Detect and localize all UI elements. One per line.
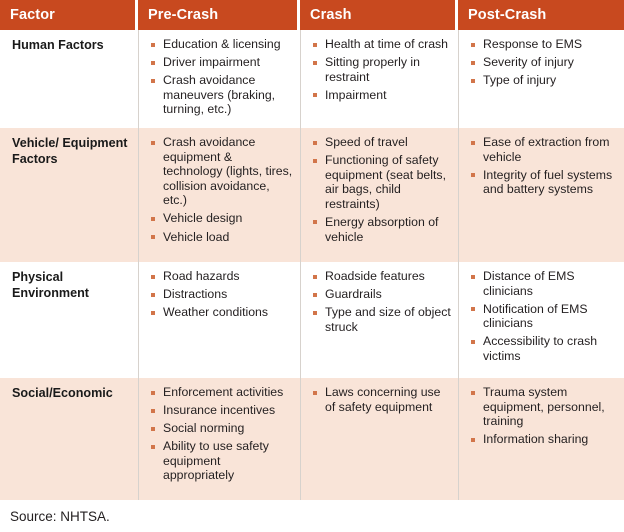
cell-post-crash: Response to EMS Severity of injury Type … — [458, 30, 624, 128]
list-item-text: Social norming — [163, 421, 244, 435]
cell-post-crash: Distance of EMS clinicians Notification … — [458, 262, 624, 378]
list-item: Distance of EMS clinicians — [469, 269, 618, 298]
list-item: Guardrails — [311, 287, 452, 302]
bullet-list-post-crash: Response to EMS Severity of injury Type … — [469, 37, 618, 88]
column-header-factor: Factor — [0, 0, 135, 30]
list-item-text: Ability to use safety equipment appropri… — [163, 439, 269, 482]
list-item: Information sharing — [469, 432, 618, 447]
bullet-square-icon — [313, 275, 317, 279]
list-item: Functioning of safety equipment (seat be… — [311, 153, 452, 211]
bullet-list-post-crash: Distance of EMS clinicians Notification … — [469, 269, 618, 364]
list-item: Speed of travel — [311, 135, 452, 150]
list-item-text: Driver impairment — [163, 55, 260, 69]
bullet-list-crash: Laws concerning use of safety equipment — [311, 385, 452, 414]
list-item: Vehicle design — [149, 211, 294, 226]
list-item: Type and size of object struck — [311, 305, 452, 334]
cell-crash: Health at time of crash Sitting properly… — [300, 30, 458, 128]
list-item-text: Vehicle design — [163, 211, 242, 225]
cell-pre-crash: Road hazards Distractions Weather condit… — [138, 262, 300, 378]
bullet-square-icon — [471, 141, 475, 145]
bullet-list-post-crash: Trauma system equipment, personnel, trai… — [469, 385, 618, 447]
row-factor-text: Vehicle/ Equipment Factors — [12, 136, 127, 166]
bullet-square-icon — [151, 217, 155, 221]
list-item: Sitting properly in restraint — [311, 55, 452, 84]
list-item-text: Education & licensing — [163, 37, 281, 51]
list-item: Accessibility to crash victims — [469, 334, 618, 363]
list-item: Weather conditions — [149, 305, 294, 320]
cell-crash: Roadside features Guardrails Type and si… — [300, 262, 458, 378]
table-row: Human Factors Education & licensing Driv… — [0, 30, 624, 128]
bullet-square-icon — [313, 293, 317, 297]
list-item-text: Weather conditions — [163, 305, 268, 319]
list-item-text: Notification of EMS clinicians — [483, 302, 588, 331]
row-factor-label: Human Factors — [0, 30, 138, 128]
bullet-square-icon — [471, 173, 475, 177]
bullet-square-icon — [151, 275, 155, 279]
bullet-square-icon — [151, 43, 155, 47]
list-item-text: Type and size of object struck — [325, 305, 451, 334]
list-item: Health at time of crash — [311, 37, 452, 52]
list-item: Distractions — [149, 287, 294, 302]
list-item-text: Health at time of crash — [325, 37, 448, 51]
bullet-list-pre-crash: Road hazards Distractions Weather condit… — [149, 269, 294, 320]
bullet-square-icon — [471, 340, 475, 344]
list-item: Severity of injury — [469, 55, 618, 70]
list-item-text: Enforcement activities — [163, 385, 283, 399]
list-item-text: Sitting properly in restraint — [325, 55, 420, 84]
bullet-square-icon — [313, 220, 317, 224]
row-factor-text: Physical Environment — [12, 270, 89, 300]
bullet-square-icon — [471, 61, 475, 65]
bullet-list-crash: Speed of travel Functioning of safety eq… — [311, 135, 452, 244]
bullet-square-icon — [471, 79, 475, 83]
bullet-list-post-crash: Ease of extraction from vehicle Integrit… — [469, 135, 618, 197]
bullet-square-icon — [151, 409, 155, 413]
list-item-text: Road hazards — [163, 269, 240, 283]
haddon-matrix-table-figure: Factor Pre-Crash Crash Post-Crash Human … — [0, 0, 624, 532]
list-item-text: Accessibility to crash victims — [483, 334, 597, 363]
list-item-text: Functioning of safety equipment (seat be… — [325, 153, 446, 211]
bullet-list-pre-crash: Crash avoidance equipment & technology (… — [149, 135, 294, 244]
bullet-square-icon — [151, 61, 155, 65]
list-item: Social norming — [149, 421, 294, 436]
bullet-square-icon — [313, 43, 317, 47]
list-item-text: Crash avoidance equipment & technology (… — [163, 135, 292, 207]
bullet-square-icon — [313, 159, 317, 163]
list-item-text: Trauma system equipment, personnel, trai… — [483, 385, 605, 428]
bullet-list-crash: Roadside features Guardrails Type and si… — [311, 269, 452, 334]
bullet-square-icon — [471, 275, 475, 279]
cell-post-crash: Ease of extraction from vehicle Integrit… — [458, 128, 624, 262]
bullet-square-icon — [471, 307, 475, 311]
list-item: Notification of EMS clinicians — [469, 302, 618, 331]
bullet-square-icon — [151, 79, 155, 83]
table-body: Human Factors Education & licensing Driv… — [0, 30, 624, 500]
list-item: Insurance incentives — [149, 403, 294, 418]
table-row: Physical Environment Road hazards Distra… — [0, 262, 624, 378]
bullet-square-icon — [151, 235, 155, 239]
row-factor-label: Social/Economic — [0, 378, 138, 500]
table-row: Vehicle/ Equipment Factors Crash avoidan… — [0, 128, 624, 262]
bullet-square-icon — [313, 61, 317, 65]
bullet-list-pre-crash: Enforcement activities Insurance incenti… — [149, 385, 294, 483]
list-item: Roadside features — [311, 269, 452, 284]
cell-crash: Speed of travel Functioning of safety eq… — [300, 128, 458, 262]
bullet-square-icon — [471, 43, 475, 47]
bullet-square-icon — [151, 427, 155, 431]
bullet-square-icon — [151, 445, 155, 449]
bullet-square-icon — [471, 438, 475, 442]
list-item-text: Information sharing — [483, 432, 588, 446]
cell-crash: Laws concerning use of safety equipment — [300, 378, 458, 500]
bullet-square-icon — [151, 293, 155, 297]
list-item-text: Type of injury — [483, 73, 556, 87]
source-caption: Source: NHTSA. — [0, 500, 624, 525]
row-factor-label: Vehicle/ Equipment Factors — [0, 128, 138, 262]
list-item: Vehicle load — [149, 230, 294, 245]
list-item-text: Severity of injury — [483, 55, 574, 69]
list-item: Trauma system equipment, personnel, trai… — [469, 385, 618, 429]
list-item: Driver impairment — [149, 55, 294, 70]
list-item-text: Laws concerning use of safety equipment — [325, 385, 441, 414]
list-item-text: Roadside features — [325, 269, 425, 283]
list-item: Ease of extraction from vehicle — [469, 135, 618, 164]
list-item: Road hazards — [149, 269, 294, 284]
column-header-pre-crash: Pre-Crash — [138, 0, 297, 30]
list-item: Impairment — [311, 88, 452, 103]
list-item: Energy absorption of vehicle — [311, 215, 452, 244]
list-item: Laws concerning use of safety equipment — [311, 385, 452, 414]
list-item: Type of injury — [469, 73, 618, 88]
table-row: Social/Economic Enforcement activities I… — [0, 378, 624, 500]
bullet-square-icon — [313, 93, 317, 97]
bullet-square-icon — [151, 311, 155, 315]
column-header-crash: Crash — [300, 0, 455, 30]
list-item-text: Speed of travel — [325, 135, 408, 149]
bullet-square-icon — [313, 141, 317, 145]
list-item-text: Vehicle load — [163, 230, 229, 244]
list-item-text: Guardrails — [325, 287, 382, 301]
bullet-list-crash: Health at time of crash Sitting properly… — [311, 37, 452, 102]
list-item-text: Distractions — [163, 287, 227, 301]
bullet-square-icon — [151, 141, 155, 145]
list-item: Ability to use safety equipment appropri… — [149, 439, 294, 483]
list-item: Education & licensing — [149, 37, 294, 52]
list-item-text: Energy absorption of vehicle — [325, 215, 438, 244]
cell-pre-crash: Enforcement activities Insurance incenti… — [138, 378, 300, 500]
list-item: Integrity of fuel systems and battery sy… — [469, 168, 618, 197]
bullet-square-icon — [471, 391, 475, 395]
cell-post-crash: Trauma system equipment, personnel, trai… — [458, 378, 624, 500]
list-item-text: Impairment — [325, 88, 387, 102]
list-item: Crash avoidance maneuvers (braking, turn… — [149, 73, 294, 117]
cell-pre-crash: Education & licensing Driver impairment … — [138, 30, 300, 128]
list-item-text: Response to EMS — [483, 37, 582, 51]
bullet-square-icon — [313, 391, 317, 395]
column-header-post-crash: Post-Crash — [458, 0, 624, 30]
list-item-text: Insurance incentives — [163, 403, 275, 417]
bullet-list-pre-crash: Education & licensing Driver impairment … — [149, 37, 294, 117]
row-factor-label: Physical Environment — [0, 262, 138, 378]
list-item: Response to EMS — [469, 37, 618, 52]
list-item-text: Distance of EMS clinicians — [483, 269, 575, 298]
list-item-text: Ease of extraction from vehicle — [483, 135, 609, 164]
list-item: Enforcement activities — [149, 385, 294, 400]
table-header-row: Factor Pre-Crash Crash Post-Crash — [0, 0, 624, 30]
list-item-text: Crash avoidance maneuvers (braking, turn… — [163, 73, 275, 116]
list-item: Crash avoidance equipment & technology (… — [149, 135, 294, 208]
cell-pre-crash: Crash avoidance equipment & technology (… — [138, 128, 300, 262]
bullet-square-icon — [313, 311, 317, 315]
bullet-square-icon — [151, 391, 155, 395]
list-item-text: Integrity of fuel systems and battery sy… — [483, 168, 612, 197]
